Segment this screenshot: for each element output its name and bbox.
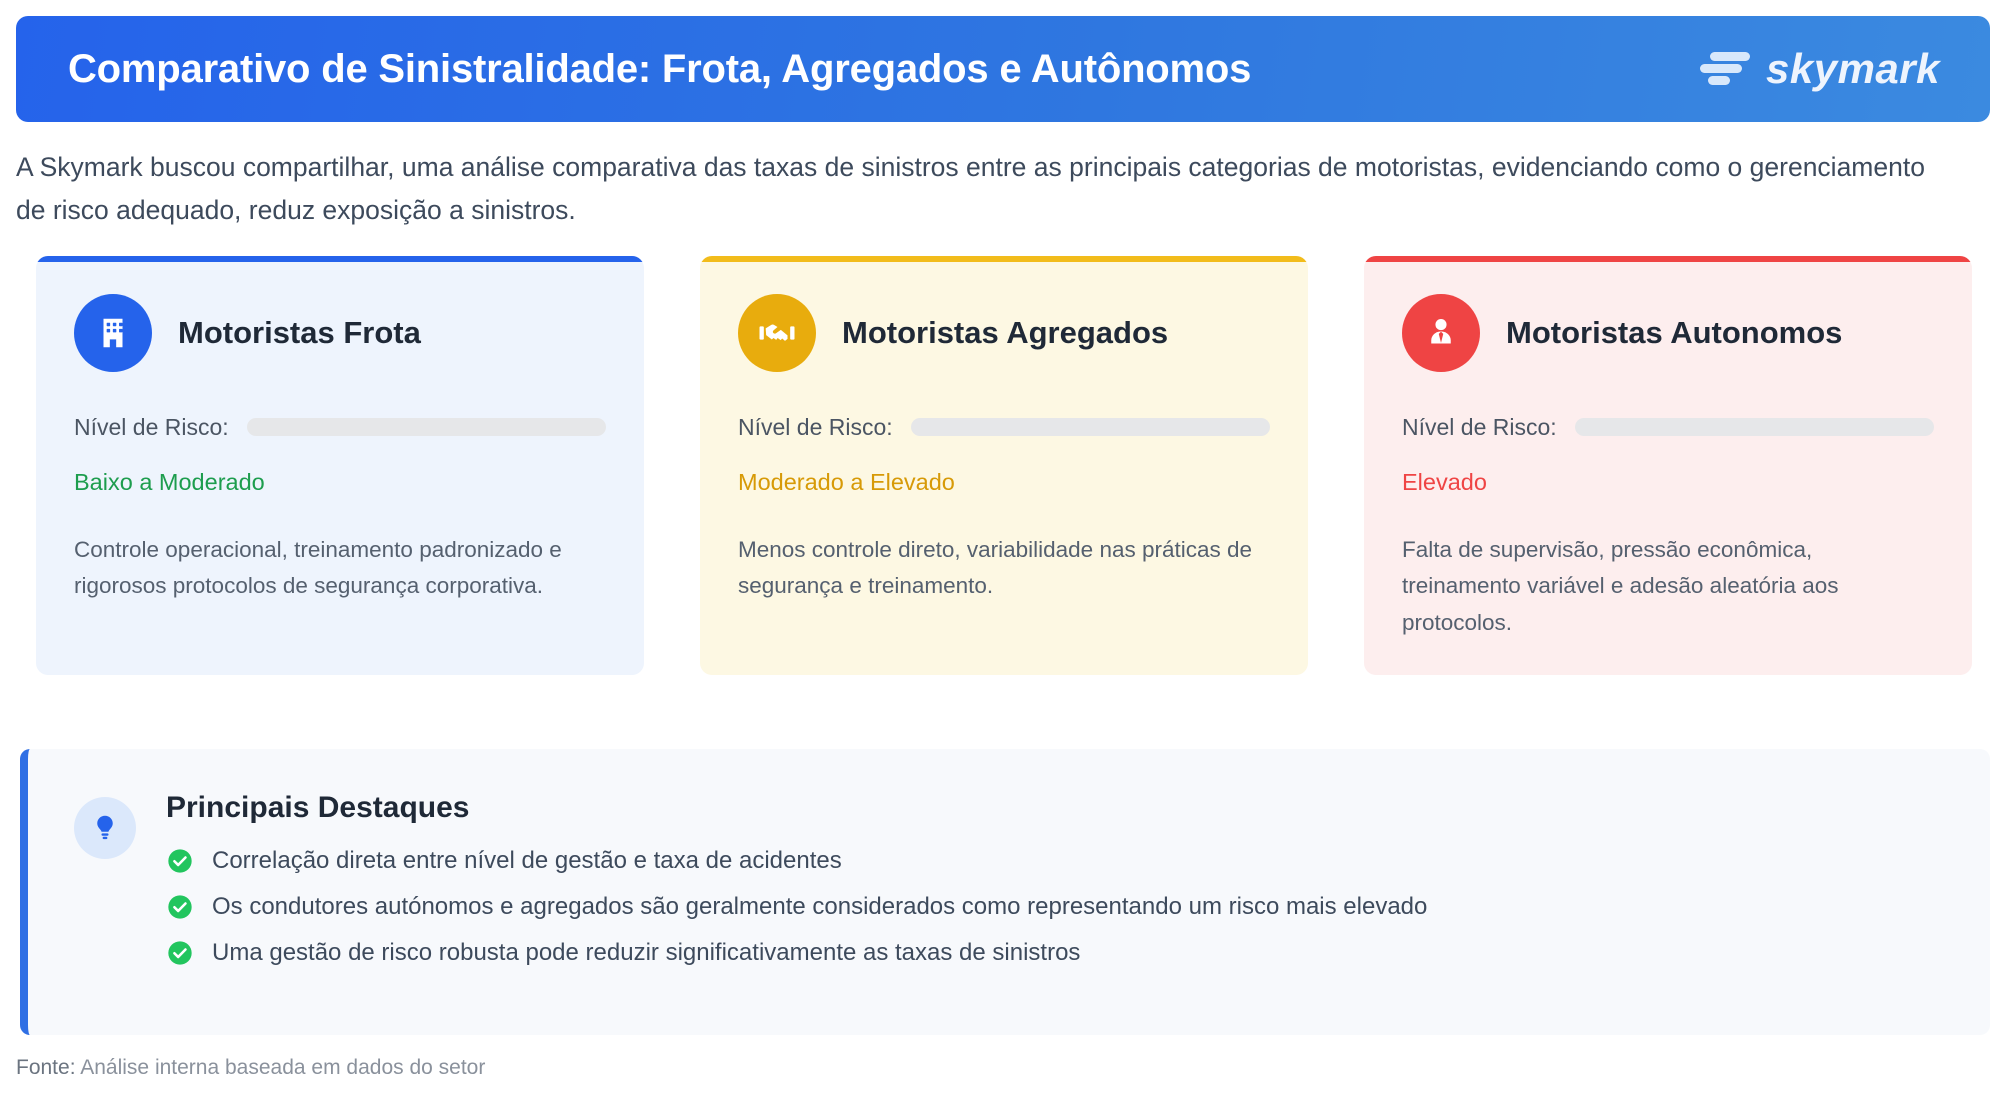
card-title: Motoristas Agregados (842, 315, 1168, 351)
infographic-page: Comparativo de Sinistralidade: Frota, Ag… (0, 16, 2006, 1112)
check-circle-icon (166, 939, 194, 967)
list-item-label: Correlação direta entre nível de gestão … (212, 847, 842, 875)
card-description: Menos controle direto, variabilidade nas… (738, 532, 1270, 605)
check-circle-icon (166, 893, 194, 921)
card-header: Motoristas Autonomos (1402, 294, 1934, 372)
highlights-panel: Principais Destaques Correlação direta e… (20, 749, 1990, 1035)
source-footnote: Fonte: Análise interna baseada em dados … (16, 1056, 485, 1080)
card-header: Motoristas Frota (74, 294, 606, 372)
intro-paragraph: A Skymark buscou compartilhar, uma análi… (16, 146, 1990, 232)
highlights-list: Correlação direta entre nível de gestão … (166, 847, 1427, 967)
card-description: Controle operacional, treinamento padron… (74, 532, 606, 605)
risk-level-label: Nível de Risco: (738, 414, 893, 441)
highlights-content: Principais Destaques Correlação direta e… (166, 791, 1427, 991)
list-item: Correlação direta entre nível de gestão … (166, 847, 1427, 875)
risk-bar-track (1575, 418, 1934, 436)
logo-text: skymark (1766, 45, 1940, 93)
card-header: Motoristas Agregados (738, 294, 1270, 372)
list-item: Os condutores autónomos e agregados são … (166, 893, 1427, 921)
risk-level-row: Nível de Risco: (74, 414, 606, 441)
risk-level-row: Nível de Risco: (738, 414, 1270, 441)
risk-level-text: Moderado a Elevado (738, 469, 1270, 496)
skymark-speed-lines-icon (1696, 49, 1754, 89)
check-circle-icon (166, 847, 194, 875)
card-motoristas-autonomos[interactable]: Motoristas Autonomos Nível de Risco: Ele… (1364, 256, 1972, 675)
risk-bar-track (911, 418, 1270, 436)
risk-level-label: Nível de Risco: (74, 414, 229, 441)
intro-line-2: de risco adequado, reduz exposição a sin… (16, 189, 1990, 232)
page-header: Comparativo de Sinistralidade: Frota, Ag… (16, 16, 1990, 122)
risk-bar-track (247, 418, 606, 436)
risk-level-text: Baixo a Moderado (74, 469, 606, 496)
source-label: Fonte: (16, 1056, 76, 1079)
lightbulb-icon (74, 797, 136, 859)
card-title: Motoristas Frota (178, 315, 421, 351)
risk-level-label: Nível de Risco: (1402, 414, 1557, 441)
skymark-logo: skymark (1696, 45, 1940, 93)
list-item-label: Uma gestão de risco robusta pode reduzir… (212, 939, 1080, 967)
building-icon (74, 294, 152, 372)
intro-line-1: A Skymark buscou compartilhar, uma análi… (16, 146, 1990, 189)
list-item-label: Os condutores autónomos e agregados são … (212, 893, 1427, 921)
risk-level-row: Nível de Risco: (1402, 414, 1934, 441)
handshake-icon (738, 294, 816, 372)
source-text: Análise interna baseada em dados do seto… (80, 1056, 485, 1079)
card-title: Motoristas Autonomos (1506, 315, 1842, 351)
list-item: Uma gestão de risco robusta pode reduzir… (166, 939, 1427, 967)
card-description: Falta de supervisão, pressão econômica, … (1402, 532, 1934, 641)
person-tie-icon (1402, 294, 1480, 372)
card-motoristas-agregados[interactable]: Motoristas Agregados Nível de Risco: Mod… (700, 256, 1308, 675)
page-title: Comparativo de Sinistralidade: Frota, Ag… (68, 47, 1251, 92)
card-motoristas-frota[interactable]: Motoristas Frota Nível de Risco: Baixo a… (36, 256, 644, 675)
category-cards: Motoristas Frota Nível de Risco: Baixo a… (36, 256, 1990, 675)
risk-level-text: Elevado (1402, 469, 1934, 496)
highlights-title: Principais Destaques (166, 791, 1427, 825)
